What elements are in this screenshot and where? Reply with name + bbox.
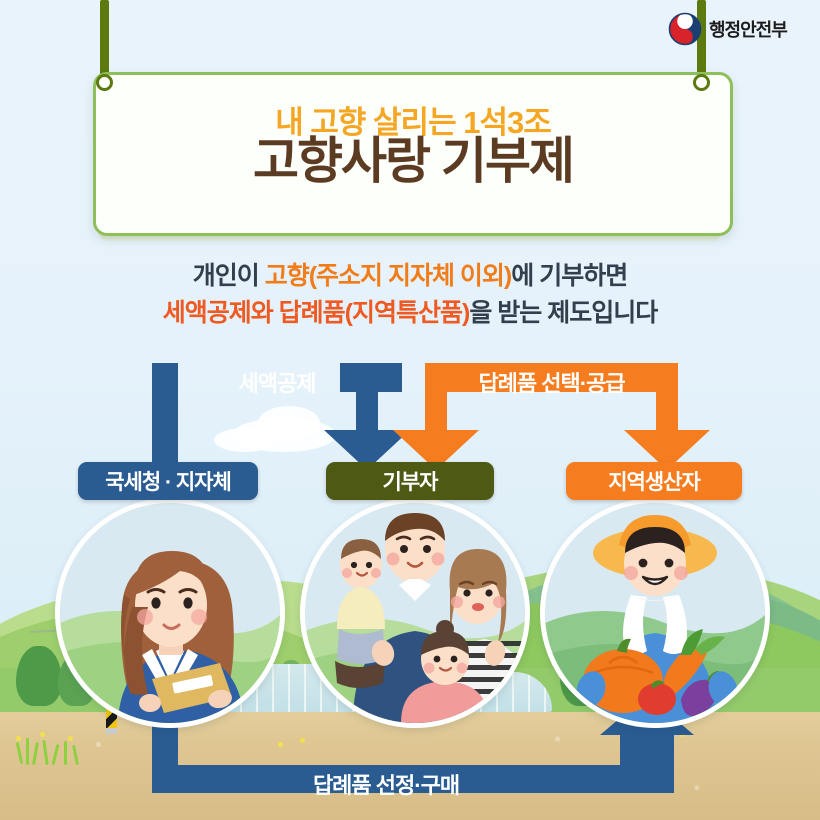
cloud [214, 428, 276, 452]
official-woman-icon [60, 503, 280, 723]
desc-l2-part2: 을 받는 제도입니다 [469, 299, 657, 327]
description-text: 개인이 고향(주소지 지자체 이외)에 기부하면 세액공제와 답례품(지역특산품… [0, 258, 820, 332]
grass-tuft [64, 741, 67, 765]
flower [68, 736, 73, 741]
farmer-icon [545, 503, 765, 723]
desc-l1-part1: 개인이 [193, 262, 265, 290]
description-line-2: 세액공제와 답례품(지역특산품)을 받는 제도입니다 [0, 295, 820, 332]
role-label-tax-authority: 국세청 · 지자체 [105, 466, 231, 496]
family-icon [305, 503, 525, 723]
desc-l1-part2: 에 기부하면 [511, 262, 627, 290]
role-box-tax-authority[interactable]: 국세청 · 지자체 [78, 462, 258, 500]
family-circle [300, 498, 530, 728]
role-box-local-producer[interactable]: 지역생산자 [566, 462, 742, 500]
dirt-ground [0, 712, 820, 820]
flower [658, 740, 663, 745]
gift-purchase-arrow-label: 답례품 선정·구매 [152, 768, 620, 800]
flower [16, 736, 21, 741]
ministry-name: 행정안전부 [709, 16, 787, 42]
taegeuk-icon [668, 12, 702, 46]
sign-eyelet-left [96, 74, 113, 91]
role-label-donor: 기부자 [383, 466, 438, 496]
tax-credit-arrow-label: 세액공제 [152, 366, 402, 398]
flower [680, 732, 685, 737]
tree [16, 646, 62, 706]
grass-tuft [26, 738, 29, 765]
flower [300, 738, 305, 743]
flower [278, 742, 283, 747]
gift-supply-arrow-label: 답례품 선택·공급 [425, 366, 678, 398]
ministry-logo: 행정안전부 [668, 12, 787, 46]
title-signboard: 내 고향 살리는 1석3조 고향사랑 기부제 [93, 72, 733, 236]
role-box-donor[interactable]: 기부자 [326, 462, 494, 500]
flower [636, 734, 641, 739]
farmer-circle [540, 498, 770, 728]
sign-eyelet-right [693, 74, 710, 91]
official-woman-circle [55, 498, 285, 728]
flower [40, 732, 45, 737]
infographic-poster: 내 고향 살리는 1석3조 고향사랑 기부제 행정안전부 개인이 고향(주소지 … [0, 0, 820, 820]
desc-l2-highlight: 세액공제와 답례품(지역특산품) [163, 299, 470, 327]
role-label-local-producer: 지역생산자 [608, 466, 700, 496]
poster-title: 고향사랑 기부제 [96, 135, 730, 188]
desc-l1-highlight: 고향(주소지 지자체 이외) [265, 262, 512, 290]
description-line-1: 개인이 고향(주소지 지자체 이외)에 기부하면 [0, 258, 820, 295]
